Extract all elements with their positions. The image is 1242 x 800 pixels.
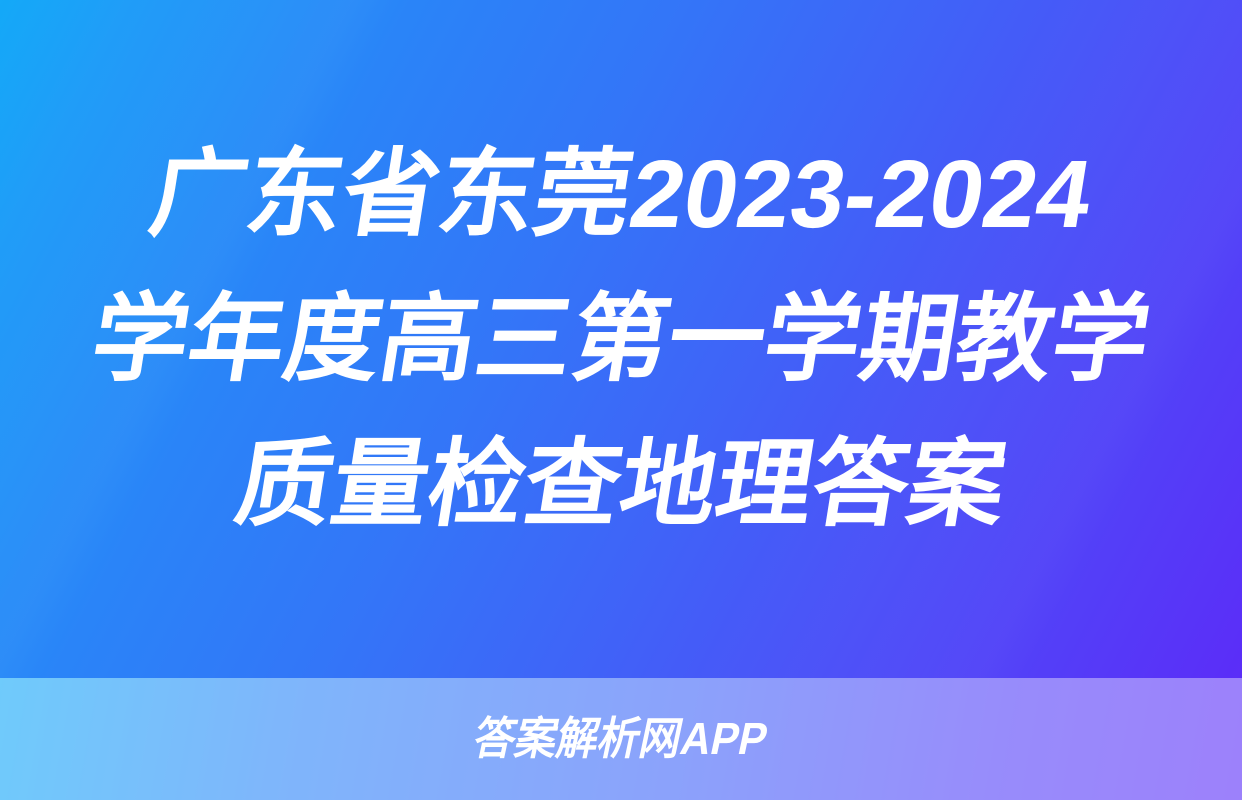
title-block: 广东省东莞2023-2024 学年度高三第一学期教学 质量检查地理答案 <box>0 0 1242 678</box>
title-line-3: 质量检查地理答案 <box>0 412 1242 557</box>
title-line-1: 广东省东莞2023-2024 <box>0 122 1242 267</box>
app-watermark-label: 答案解析网APP <box>470 715 772 763</box>
poster-canvas: 广东省东莞2023-2024 学年度高三第一学期教学 质量检查地理答案 答案解析… <box>0 0 1242 800</box>
title-line-2: 学年度高三第一学期教学 <box>0 267 1242 412</box>
footer-text-wrap: 答案解析网APP <box>0 678 1242 800</box>
